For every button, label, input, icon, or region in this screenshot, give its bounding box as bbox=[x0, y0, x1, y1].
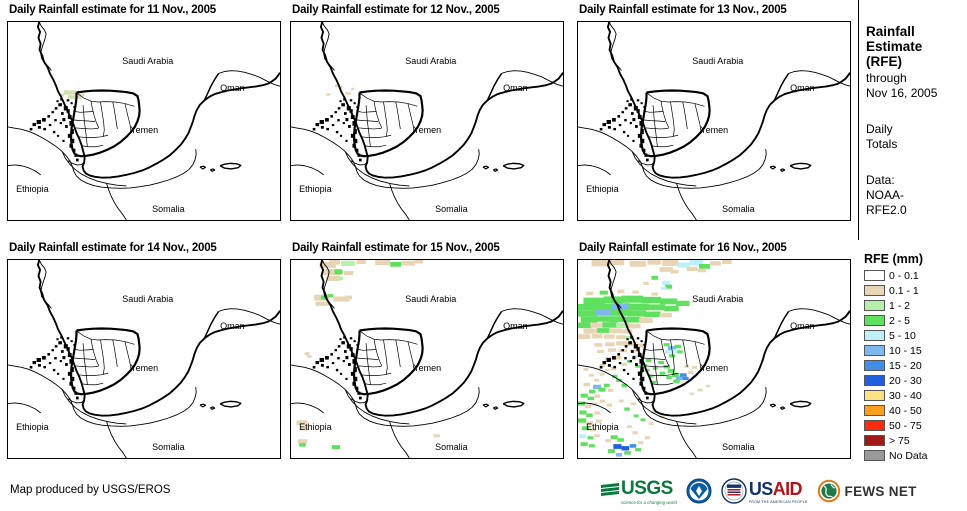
rainfall-cell bbox=[616, 335, 626, 339]
rainfall-cell bbox=[588, 436, 594, 439]
relief-cell bbox=[354, 102, 356, 104]
rainfall-cell bbox=[661, 287, 666, 290]
relief-cell bbox=[343, 360, 345, 362]
islet bbox=[210, 169, 214, 171]
rainfall-cell bbox=[664, 306, 679, 311]
rainfall-cell bbox=[664, 343, 670, 346]
rainfall-cell bbox=[69, 96, 73, 99]
country-label-somalia: Somalia bbox=[152, 204, 185, 214]
relief-cell bbox=[626, 100, 628, 102]
rainfall-cell bbox=[375, 260, 390, 265]
rainfall-cell bbox=[689, 393, 693, 395]
rainfall-cell bbox=[645, 311, 661, 317]
rainfall-cell bbox=[669, 354, 675, 357]
map-inner: Saudi ArabiaOmanYemenEthiopiaSomalia bbox=[291, 260, 563, 458]
islet bbox=[493, 169, 497, 171]
socotra-island bbox=[220, 163, 241, 169]
relief-cell bbox=[345, 140, 347, 142]
relief-cell bbox=[67, 337, 69, 339]
rainfall-cell bbox=[583, 329, 597, 334]
somalia-inland-border bbox=[389, 421, 409, 458]
sidebar-through-date: Nov 16, 2005 bbox=[866, 86, 966, 101]
sidebar-data-version: RFE2.0 bbox=[866, 203, 966, 218]
map-frame[interactable]: Saudi ArabiaOmanYemenEthiopiaSomalia bbox=[7, 21, 281, 221]
logo-strip: USGS science for a changing world bbox=[600, 474, 926, 508]
yemen-governorate-border bbox=[76, 366, 98, 367]
legend-label: 0 - 0.1 bbox=[889, 270, 919, 282]
rainfall-cell bbox=[597, 350, 604, 353]
rainfall-cell bbox=[578, 418, 586, 422]
relief-cell bbox=[42, 356, 46, 360]
country-label-yemen: Yemen bbox=[700, 363, 728, 373]
relief-cell bbox=[54, 119, 56, 121]
relief-cell bbox=[62, 140, 64, 142]
relief-cell bbox=[338, 345, 341, 347]
country-label-oman: Oman bbox=[220, 321, 245, 331]
legend-item: > 75 bbox=[864, 433, 967, 448]
rainfall-cell bbox=[660, 313, 672, 318]
sidebar-data-source: NOAA- bbox=[866, 188, 966, 203]
rainfall-cell bbox=[680, 373, 687, 377]
map-frame[interactable]: Saudi ArabiaOmanYemenEthiopiaSomalia bbox=[290, 21, 564, 221]
yemen-governorate-border bbox=[113, 340, 118, 367]
usaid-seal-icon bbox=[721, 478, 747, 504]
relief-cell bbox=[53, 131, 55, 133]
legend-item: 5 - 10 bbox=[864, 328, 967, 343]
legend-item: 15 - 20 bbox=[864, 358, 967, 373]
yemen-governorate-border bbox=[360, 93, 417, 106]
panel-title: Daily Rainfall estimate for 13 Nov., 200… bbox=[579, 4, 787, 16]
rainfall-cell bbox=[611, 435, 618, 439]
rainfall-cell bbox=[671, 270, 679, 274]
relief-cell bbox=[56, 338, 58, 340]
rainfall-cell bbox=[624, 317, 640, 323]
legend-swatch bbox=[864, 330, 885, 341]
rainfall-cell bbox=[344, 271, 354, 275]
relief-cell bbox=[619, 362, 621, 364]
rainfall-cell bbox=[345, 296, 352, 300]
rainfall-cell bbox=[645, 436, 650, 439]
somalia-inland-border bbox=[676, 183, 696, 220]
yemen-governorate-border bbox=[101, 102, 105, 137]
rainfall-cell bbox=[698, 389, 703, 392]
rainfall-cell bbox=[660, 372, 665, 375]
sidebar-title: Rainfall Estimate (RFE) bbox=[866, 24, 966, 69]
legend-label: 5 - 10 bbox=[889, 330, 916, 342]
legend-list: 0 - 0.10.1 - 11 - 22 - 55 - 1010 - 1515 … bbox=[864, 268, 967, 463]
islet bbox=[770, 166, 775, 169]
legend-item: 20 - 30 bbox=[864, 373, 967, 388]
relief-cell bbox=[61, 350, 64, 353]
rainfall-cell bbox=[621, 446, 629, 450]
rainfall-cell bbox=[434, 434, 440, 437]
relief-cell bbox=[336, 131, 338, 133]
usgs-mark-icon bbox=[600, 482, 620, 500]
usgs-logo-text: USGS bbox=[621, 478, 673, 500]
relief-cell bbox=[344, 350, 347, 353]
rainfall-cell bbox=[603, 322, 618, 328]
legend-swatch bbox=[864, 315, 885, 326]
relief-cell bbox=[624, 119, 626, 121]
relief-cell bbox=[341, 341, 345, 344]
socotra-island bbox=[220, 401, 241, 407]
legend-label: 10 - 15 bbox=[889, 345, 922, 357]
relief-cell bbox=[30, 366, 33, 369]
map-inner: Saudi ArabiaOmanYemenEthiopiaSomalia bbox=[8, 22, 280, 220]
socotra-island bbox=[790, 163, 811, 169]
yemen-governorate-border bbox=[364, 145, 386, 147]
rainfall-cell bbox=[597, 328, 609, 333]
relief-cell bbox=[55, 345, 58, 347]
rainfall-cell bbox=[581, 442, 588, 446]
islet bbox=[483, 166, 488, 169]
rainfall-cell bbox=[586, 413, 593, 417]
relief-cell bbox=[58, 341, 62, 344]
map-graphic bbox=[8, 260, 280, 458]
yemen-governorate-border bbox=[77, 331, 134, 344]
relief-cell bbox=[320, 358, 324, 362]
relief-cell bbox=[632, 378, 634, 380]
islet bbox=[493, 407, 497, 409]
legend-swatch bbox=[864, 420, 885, 431]
rainfall-cell bbox=[634, 414, 639, 417]
relief-cell bbox=[626, 338, 628, 340]
panel-title: Daily Rainfall estimate for 15 Nov., 200… bbox=[292, 242, 500, 254]
rainfall-cell bbox=[299, 443, 306, 447]
rainfall-cell bbox=[666, 376, 671, 379]
somalia-inland-border bbox=[106, 183, 126, 220]
rainfall-cell bbox=[590, 323, 604, 328]
yemen-governorate-border bbox=[683, 102, 688, 129]
yemen-governorate-border bbox=[647, 331, 704, 344]
relief-cell bbox=[627, 373, 629, 375]
rainfall-cell bbox=[608, 449, 615, 453]
yemen-governorate-border bbox=[661, 101, 669, 128]
yemen-governorate-border bbox=[683, 340, 688, 367]
country-label-ethiopia: Ethiopia bbox=[586, 422, 619, 432]
rainfall-cell bbox=[684, 365, 689, 368]
rainfall-cell bbox=[628, 304, 648, 311]
noaa-seal-icon bbox=[686, 478, 712, 504]
rainfall-cell bbox=[341, 261, 355, 266]
ethiopia-inland-border bbox=[291, 403, 324, 413]
relief-cell bbox=[617, 353, 620, 356]
legend-item: 40 - 50 bbox=[864, 403, 967, 418]
usaid-logo[interactable]: USAID FROM THE AMERICAN PEOPLE bbox=[721, 478, 808, 504]
relief-cell bbox=[76, 397, 79, 400]
rainfall-cell bbox=[326, 93, 330, 95]
rainfall-cell bbox=[665, 350, 672, 354]
sidebar-totals-line1: Daily bbox=[866, 122, 966, 137]
socotra-island bbox=[790, 401, 811, 407]
legend-label: 40 - 50 bbox=[889, 405, 922, 417]
relief-cell bbox=[56, 100, 58, 102]
country-label-ethiopia: Ethiopia bbox=[299, 422, 332, 432]
rainfall-cell bbox=[401, 261, 415, 266]
relief-cell bbox=[54, 357, 56, 359]
rainfall-cell bbox=[356, 260, 366, 264]
yemen-governorate-border bbox=[653, 105, 657, 147]
legend-label: 30 - 40 bbox=[889, 390, 922, 402]
rainfall-cell bbox=[596, 310, 612, 316]
relief-cell bbox=[325, 118, 329, 122]
rainfall-cell bbox=[609, 329, 621, 334]
relief-cell bbox=[334, 111, 336, 113]
legend-label: 1 - 2 bbox=[889, 300, 910, 312]
rainfall-cell bbox=[616, 453, 622, 457]
fews-net-logo[interactable]: FEWS NET bbox=[817, 479, 917, 503]
legend-label: > 75 bbox=[889, 435, 910, 447]
rainfall-cell bbox=[69, 91, 73, 94]
legend-item: 30 - 40 bbox=[864, 388, 967, 403]
legend-item: 0 - 0.1 bbox=[864, 268, 967, 283]
relief-cell bbox=[632, 118, 635, 121]
rainfall-cell bbox=[605, 342, 615, 346]
rainfall-cell bbox=[605, 439, 611, 442]
sidebar-title-line2: Estimate bbox=[866, 39, 966, 54]
legend-item: 1 - 2 bbox=[864, 298, 967, 313]
panel-title: Daily Rainfall estimate for 14 Nov., 200… bbox=[9, 242, 217, 254]
rfe-map-page: Daily Rainfall estimate for 11 Nov., 200… bbox=[0, 0, 967, 511]
relief-cell bbox=[42, 118, 46, 122]
country-label-saudi-arabia: Saudi Arabia bbox=[122, 56, 173, 66]
yemen-governorate-border bbox=[77, 93, 134, 106]
legend-swatch bbox=[864, 375, 885, 386]
rainfall-cell bbox=[604, 334, 615, 338]
yemen-governorate-border bbox=[76, 128, 98, 129]
rainfall-cell bbox=[651, 276, 658, 280]
rainfall-cell bbox=[328, 294, 333, 297]
sidebar-divider bbox=[858, 0, 859, 240]
legend-swatch bbox=[864, 285, 885, 296]
rainfall-cell bbox=[630, 444, 637, 448]
relief-cell bbox=[337, 357, 339, 359]
yemen-governorate-border bbox=[396, 102, 401, 129]
relief-cell bbox=[62, 118, 65, 121]
rainfall-cell bbox=[630, 261, 646, 267]
yemen-governorate-border bbox=[671, 102, 675, 137]
relief-cell bbox=[635, 125, 638, 128]
map-credit: Map produced by USGS/EROS bbox=[10, 484, 170, 496]
sidebar-title-line1: Rainfall bbox=[866, 24, 966, 39]
legend-swatch bbox=[864, 300, 885, 311]
relief-cell bbox=[332, 124, 334, 126]
country-label-oman: Oman bbox=[790, 83, 815, 93]
rainfall-cell bbox=[612, 303, 630, 309]
map-frame[interactable]: Saudi ArabiaOmanYemenEthiopiaSomalia bbox=[577, 21, 851, 221]
relief-cell bbox=[619, 124, 621, 126]
ethiopia-inland-border bbox=[291, 165, 324, 175]
yemen-governorate-border bbox=[396, 340, 401, 367]
country-label-oman: Oman bbox=[503, 83, 528, 93]
rainfall-cell bbox=[583, 383, 590, 387]
rainfall-cell bbox=[662, 260, 678, 266]
rainfall-cell bbox=[632, 431, 637, 434]
rainfall-cell bbox=[65, 91, 69, 94]
country-label-somalia: Somalia bbox=[152, 442, 185, 452]
relief-cell bbox=[339, 100, 341, 102]
islet bbox=[770, 404, 775, 407]
country-label-somalia: Somalia bbox=[722, 442, 755, 452]
relief-cell bbox=[637, 99, 639, 101]
map-frame[interactable]: Saudi ArabiaOmanYemenEthiopiaSomalia bbox=[7, 259, 281, 459]
rainfall-cell bbox=[641, 418, 646, 421]
relief-cell bbox=[53, 369, 55, 371]
relief-cell bbox=[621, 111, 623, 113]
rainfall-cell bbox=[578, 323, 592, 329]
relief-cell bbox=[321, 126, 324, 129]
map-graphic bbox=[291, 260, 563, 458]
rainfall-cell bbox=[578, 304, 596, 310]
relief-cell bbox=[62, 356, 65, 359]
relief-cell bbox=[603, 123, 607, 126]
country-label-somalia: Somalia bbox=[435, 204, 468, 214]
sidebar: Rainfall Estimate (RFE) through Nov 16, … bbox=[858, 0, 967, 511]
rainfall-cell bbox=[334, 270, 342, 275]
rainfall-cell bbox=[619, 400, 624, 403]
rainfall-cell bbox=[598, 388, 605, 392]
rainfall-cell bbox=[646, 359, 651, 362]
rainfall-cell bbox=[688, 371, 693, 374]
relief-cell bbox=[625, 107, 628, 109]
islet bbox=[780, 407, 784, 409]
rainfall-cell bbox=[662, 281, 670, 285]
sidebar-totals-line2: Totals bbox=[866, 137, 966, 152]
sidebar-title-line3: (RFE) bbox=[866, 54, 966, 69]
rainfall-cell bbox=[345, 92, 350, 95]
rainfall-cell bbox=[683, 377, 689, 380]
relief-cell bbox=[613, 366, 616, 368]
rainfall-cell bbox=[624, 451, 631, 455]
relief-cell bbox=[628, 103, 632, 106]
map-frame[interactable]: Saudi ArabiaOmanYemenEthiopiaSomalia bbox=[577, 259, 851, 459]
rainfall-cell bbox=[611, 260, 625, 265]
rainfall-cell bbox=[594, 343, 602, 347]
rainfall-cell bbox=[710, 261, 721, 265]
legend-item: 2 - 5 bbox=[864, 313, 967, 328]
relief-cell bbox=[336, 369, 338, 371]
relief-cell bbox=[340, 135, 342, 137]
legend-swatch bbox=[864, 450, 885, 461]
rainfall-cell bbox=[617, 438, 624, 442]
rainfall-cell bbox=[415, 260, 423, 264]
usgs-logo[interactable]: USGS science for a changing world bbox=[600, 478, 677, 505]
noaa-logo[interactable] bbox=[686, 478, 712, 504]
relief-cell bbox=[630, 360, 632, 362]
legend-item: 10 - 15 bbox=[864, 343, 967, 358]
rainfall-cell bbox=[627, 425, 632, 428]
country-label-yemen: Yemen bbox=[130, 363, 158, 373]
rainfall-cell bbox=[298, 439, 308, 443]
rainfall-cell bbox=[673, 380, 680, 384]
relief-cell bbox=[641, 102, 643, 104]
relief-cell bbox=[641, 340, 643, 342]
country-label-somalia: Somalia bbox=[435, 442, 468, 452]
relief-cell bbox=[61, 112, 64, 115]
relief-cell bbox=[635, 363, 638, 366]
yemen-governorate-border bbox=[384, 340, 388, 375]
rainfall-cell bbox=[632, 290, 639, 293]
ethiopia-somalia-border bbox=[345, 390, 409, 424]
rainfall-cell bbox=[658, 361, 664, 364]
rainfall-cell bbox=[647, 304, 665, 310]
relief-cell bbox=[632, 356, 635, 359]
rainfall-cell bbox=[635, 448, 641, 451]
relief-cell bbox=[631, 112, 634, 115]
rainfall-layer bbox=[296, 260, 439, 449]
yemen-governorate-border bbox=[647, 93, 704, 106]
relief-cell bbox=[313, 366, 316, 369]
islet bbox=[780, 169, 784, 171]
rainfall-cell bbox=[687, 267, 698, 271]
map-graphic bbox=[291, 22, 563, 220]
yemen-governorate-border bbox=[366, 105, 370, 147]
map-frame[interactable]: Saudi ArabiaOmanYemenEthiopiaSomalia bbox=[290, 259, 564, 459]
legend-swatch bbox=[864, 270, 885, 281]
relief-cell bbox=[608, 364, 611, 367]
relief-cell bbox=[330, 115, 333, 118]
usaid-logo-text-us: US bbox=[749, 479, 773, 499]
country-label-oman: Oman bbox=[790, 321, 815, 331]
somalia-inland-border bbox=[676, 421, 696, 458]
yemen-governorate-border bbox=[91, 339, 99, 366]
rainfall-cell bbox=[677, 350, 682, 353]
country-label-ethiopia: Ethiopia bbox=[16, 422, 49, 432]
yemen-governorate-border bbox=[81, 145, 103, 147]
relief-cell bbox=[631, 350, 634, 353]
legend-item: 50 - 75 bbox=[864, 418, 967, 433]
relief-cell bbox=[600, 366, 603, 369]
yemen-governorate-border bbox=[83, 105, 87, 147]
islet bbox=[200, 166, 205, 169]
legend-label: 0.1 - 1 bbox=[889, 285, 919, 297]
relief-cell bbox=[65, 363, 68, 366]
relief-cell bbox=[628, 341, 632, 344]
rainfall-cell bbox=[581, 394, 588, 398]
islet bbox=[210, 407, 214, 409]
relief-cell bbox=[344, 112, 347, 115]
relief-cell bbox=[33, 361, 37, 364]
socotra-island bbox=[503, 163, 524, 169]
rainfall-cell bbox=[651, 292, 658, 295]
relief-cell bbox=[71, 102, 73, 104]
yemen-governorate-border bbox=[113, 102, 118, 129]
relief-cell bbox=[33, 123, 37, 126]
fews-net-logo-text: FEWS NET bbox=[845, 484, 917, 499]
rainfall-cell bbox=[589, 444, 595, 447]
relief-cell bbox=[637, 337, 639, 339]
relief-cell bbox=[51, 349, 53, 351]
relief-cell bbox=[339, 338, 341, 340]
somalia-inland-border bbox=[389, 183, 409, 220]
relief-cell bbox=[325, 356, 329, 360]
rainfall-cell bbox=[639, 318, 653, 323]
yemen-governorate-border bbox=[364, 383, 386, 385]
rainfall-cell bbox=[675, 345, 682, 349]
relief-cell bbox=[350, 99, 352, 101]
legend-swatch bbox=[864, 360, 885, 371]
relief-cell bbox=[624, 357, 626, 359]
relief-cell bbox=[646, 159, 649, 162]
legend-title: RFE (mm) bbox=[864, 252, 923, 266]
yemen-governorate-border bbox=[374, 101, 382, 128]
yemen-governorate-border bbox=[91, 101, 99, 128]
relief-cell bbox=[343, 122, 345, 124]
yemen-governorate-border bbox=[359, 366, 381, 367]
country-label-yemen: Yemen bbox=[130, 125, 158, 135]
relief-cell bbox=[617, 115, 620, 118]
rainfall-cell bbox=[594, 379, 599, 382]
